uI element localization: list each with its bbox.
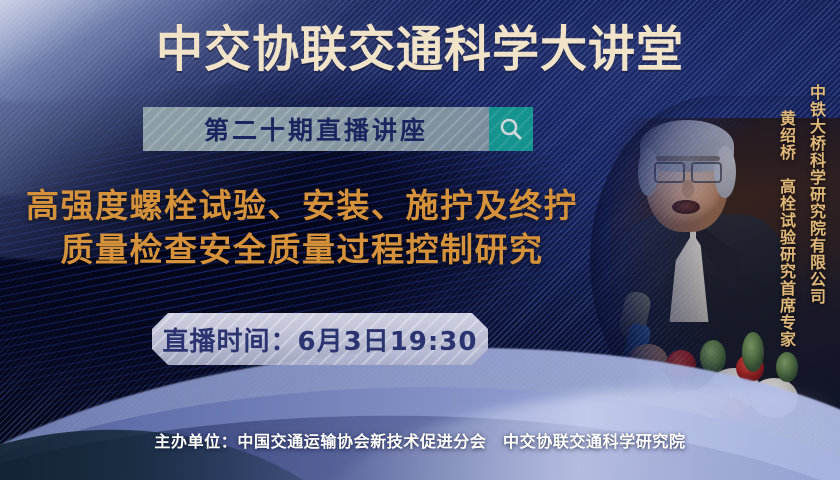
broadcast-time-label: 直播时间：6月3日19:30 [163,321,478,358]
speaker-name-role: 黄绍桥 高栓试验研究首席专家 [774,110,798,348]
search-icon [498,116,524,142]
organizer-footer: 主办单位：中国交通运输协会新技术促进分会 中交协联交通科学研究院 [0,428,840,452]
live-lecture-poster: 中交协联交通科学大讲堂 第二十期直播讲座 高强度螺栓试验、安装、施拧及终拧 质量… [0,0,840,480]
speaker-organization: 中铁大桥科学研究院有限公司 [804,84,828,305]
lecture-title-line2: 质量检查安全质量过程控制研究 [6,228,598,272]
search-button[interactable] [489,107,533,151]
lecture-title-line1: 高强度螺栓试验、安装、施拧及终拧 [6,184,598,228]
episode-label: 第二十期直播讲座 [204,111,428,147]
episode-bar: 第二十期直播讲座 [143,107,533,151]
broadcast-time-badge: 直播时间：6月3日19:30 [152,313,488,365]
page-title: 中交协联交通科学大讲堂 [17,22,823,78]
episode-plate: 第二十期直播讲座 [143,107,489,151]
lecture-title: 高强度螺栓试验、安装、施拧及终拧 质量检查安全质量过程控制研究 [6,184,598,272]
